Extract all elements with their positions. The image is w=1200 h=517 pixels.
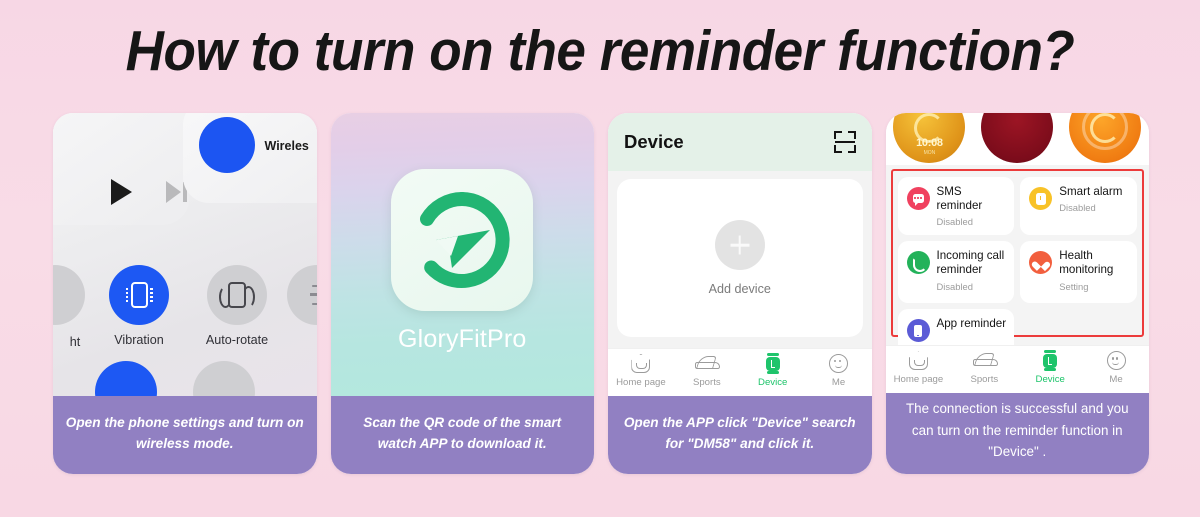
nav-label: Device — [740, 377, 806, 388]
home-icon — [608, 353, 674, 374]
play-icon[interactable] — [111, 179, 132, 205]
watchface-thumbnail[interactable]: 10:08 MON — [893, 113, 965, 163]
plus-icon[interactable] — [715, 220, 765, 270]
quick-tile-vibration[interactable]: Vibration — [95, 265, 183, 347]
shoe-icon — [674, 353, 740, 374]
panel-device-tab: Device Add device Home page — [608, 113, 872, 474]
panel-caption-text: Scan the QR code of the smart watch APP … — [343, 412, 583, 455]
nav-label: Home page — [886, 374, 952, 385]
nav-item-home-page[interactable]: Home page — [608, 353, 674, 388]
panel-caption: Open the APP click "Device" search for "… — [608, 396, 872, 474]
nav-item-sports[interactable]: Sports — [951, 350, 1017, 385]
quick-tile-cast[interactable] — [287, 265, 317, 325]
alarm-clock-icon — [1029, 187, 1052, 210]
reminder-highlight-box: SMS reminder Disabled Smart alarm Disabl… — [891, 169, 1145, 337]
watchface-carousel[interactable]: 10:08 MON 08 — [886, 113, 1150, 165]
nav-item-device[interactable]: Device — [740, 353, 806, 388]
bottom-nav: Home page Sports Device Me — [608, 348, 872, 396]
panel-caption-text: The connection is successful and you can… — [898, 398, 1138, 462]
quick-settings-surface: Wireles ht Vibration Auto-rotate — [53, 113, 317, 396]
screenshot-quick-settings: Wireles ht Vibration Auto-rotate — [53, 113, 317, 396]
reminder-name: SMS reminder — [937, 185, 1007, 213]
shoe-icon — [951, 350, 1017, 371]
add-device-label: Add device — [709, 282, 771, 296]
scan-qr-icon[interactable] — [834, 131, 856, 153]
nav-label: Me — [806, 377, 872, 388]
panel-row: Wireles ht Vibration Auto-rotate — [53, 113, 1149, 474]
app-name-label: GloryFitPro — [331, 325, 595, 354]
infographic-page: How to turn on the reminder function? Wi… — [0, 0, 1200, 517]
nav-label: Device — [1017, 374, 1083, 385]
watch-icon — [1017, 350, 1083, 371]
auto-rotate-icon[interactable] — [207, 265, 267, 325]
screenshot-reminder-screen: 10:08 MON 08 SMS reminde — [886, 113, 1150, 393]
nav-label: Home page — [608, 377, 674, 388]
wireless-tile-label: Wireles — [265, 139, 309, 153]
mobile-app-icon — [907, 319, 930, 342]
heart-icon — [1029, 251, 1052, 274]
quick-tile-partial-bottom-right[interactable] — [193, 361, 255, 396]
nav-item-sports[interactable]: Sports — [674, 353, 740, 388]
reminder-name: Incoming call reminder — [937, 249, 1007, 277]
cast-icon[interactable] — [287, 265, 317, 325]
reminder-name: Health monitoring — [1059, 249, 1129, 277]
reminder-card-health-monitoring[interactable]: Health monitoring Setting — [1020, 241, 1137, 303]
panel-reminder-settings: 10:08 MON 08 SMS reminde — [886, 113, 1150, 474]
nav-item-me[interactable]: Me — [1083, 350, 1149, 385]
panel-caption-text: Open the APP click "Device" search for "… — [620, 412, 860, 455]
reminder-state: Setting — [1059, 281, 1129, 292]
sms-icon — [907, 187, 930, 210]
reminder-state: Disabled — [937, 281, 1007, 292]
reminder-card-incoming-call[interactable]: Incoming call reminder Disabled — [898, 241, 1015, 303]
reminder-name: Smart alarm — [1059, 185, 1122, 199]
smiley-face-icon — [1083, 350, 1149, 371]
quick-tile-partial-left[interactable] — [53, 265, 85, 325]
quick-tile-partial-bottom-left[interactable] — [95, 361, 157, 396]
panel-caption: Open the phone settings and turn on wire… — [53, 396, 317, 474]
page-title-device: Device — [624, 131, 684, 153]
panel-app-download: GloryFitPro Scan the QR code of the smar… — [331, 113, 595, 474]
wireless-toggle-icon[interactable] — [199, 117, 255, 173]
watchface-thumbnail[interactable] — [1069, 113, 1141, 163]
nav-label: Me — [1083, 374, 1149, 385]
screenshot-device-screen: Device Add device Home page — [608, 113, 872, 396]
quick-tile-vibration-label: Vibration — [95, 333, 183, 347]
nav-item-home-page[interactable]: Home page — [886, 350, 952, 385]
reminder-card-sms[interactable]: SMS reminder Disabled — [898, 177, 1015, 235]
screenshot-app-icon: GloryFitPro — [331, 113, 595, 396]
quick-tile-auto-rotate-label: Auto-rotate — [187, 333, 287, 347]
panel-phone-settings: Wireles ht Vibration Auto-rotate — [53, 113, 317, 474]
nav-item-me[interactable]: Me — [806, 353, 872, 388]
vibration-icon[interactable] — [109, 265, 169, 325]
page-title: How to turn on the reminder function? — [42, 18, 1158, 84]
media-player-tile[interactable] — [53, 113, 189, 225]
watchface-time: 08 — [991, 113, 1007, 116]
device-header: Device — [608, 113, 872, 171]
nav-label: Sports — [951, 374, 1017, 385]
watch-icon — [740, 353, 806, 374]
nav-item-device[interactable]: Device — [1017, 350, 1083, 385]
watchface-subtext: MON — [893, 150, 965, 156]
panel-caption: Scan the QR code of the smart watch APP … — [331, 396, 595, 474]
watchface-thumbnail[interactable]: 08 — [981, 113, 1053, 163]
panel-caption-text: Open the phone settings and turn on wire… — [65, 412, 305, 455]
panel-caption: The connection is successful and you can… — [886, 393, 1150, 474]
smiley-face-icon — [806, 353, 872, 374]
home-icon — [886, 350, 952, 371]
bottom-nav: Home page Sports Device Me — [886, 345, 1150, 393]
phone-call-icon — [907, 251, 930, 274]
gloryfit-logo-icon[interactable] — [391, 169, 533, 311]
wireless-tile[interactable]: Wireles — [183, 113, 317, 203]
reminder-card-smart-alarm[interactable]: Smart alarm Disabled — [1020, 177, 1137, 235]
watchface-time: 10:08 — [893, 137, 965, 149]
reminder-state: Disabled — [937, 216, 1007, 227]
quick-tile-auto-rotate[interactable]: Auto-rotate — [187, 265, 287, 347]
add-device-card[interactable]: Add device — [617, 179, 863, 337]
nav-label: Sports — [674, 377, 740, 388]
reminder-name: App reminder — [937, 317, 1007, 331]
reminder-state: Disabled — [1059, 202, 1122, 213]
